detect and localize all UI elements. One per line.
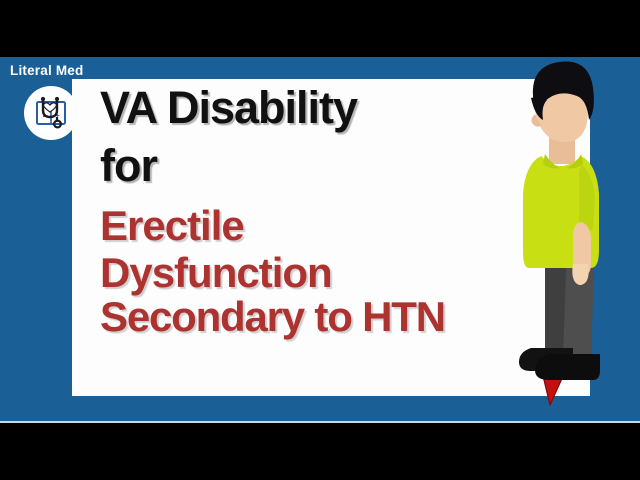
brand-logo: L + bbox=[24, 86, 78, 140]
video-player: Literal Med L + VA Disability for Erecti… bbox=[0, 0, 640, 480]
brand-name: Literal Med bbox=[10, 63, 83, 78]
letterbox-top bbox=[0, 0, 640, 57]
standing-man-illustration bbox=[505, 52, 640, 397]
letterbox-bottom bbox=[0, 423, 640, 480]
clipboard-stethoscope-icon: L + bbox=[30, 92, 72, 134]
